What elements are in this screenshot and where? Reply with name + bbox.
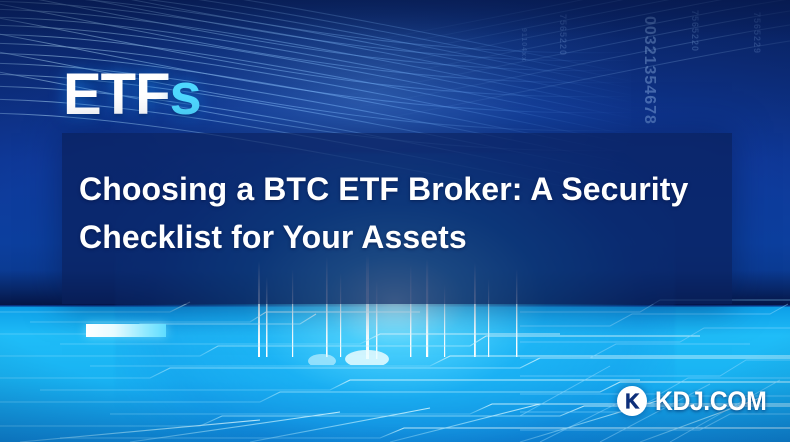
accent-bar xyxy=(86,324,166,337)
kicker-main-text: ETF xyxy=(63,62,170,127)
page-title: Choosing a BTC ETF Broker: A Security Ch… xyxy=(79,166,719,261)
site-logo[interactable]: KDJ.COM xyxy=(617,386,776,416)
kicker-accent-text: s xyxy=(170,62,201,127)
site-logo-text: KDJ.COM xyxy=(655,388,766,415)
kdj-k-icon xyxy=(617,386,647,416)
etf-article-banner: 00321354678 7565220 7565220 91104xx 7565… xyxy=(0,0,790,442)
category-kicker: ETFs xyxy=(63,66,201,124)
